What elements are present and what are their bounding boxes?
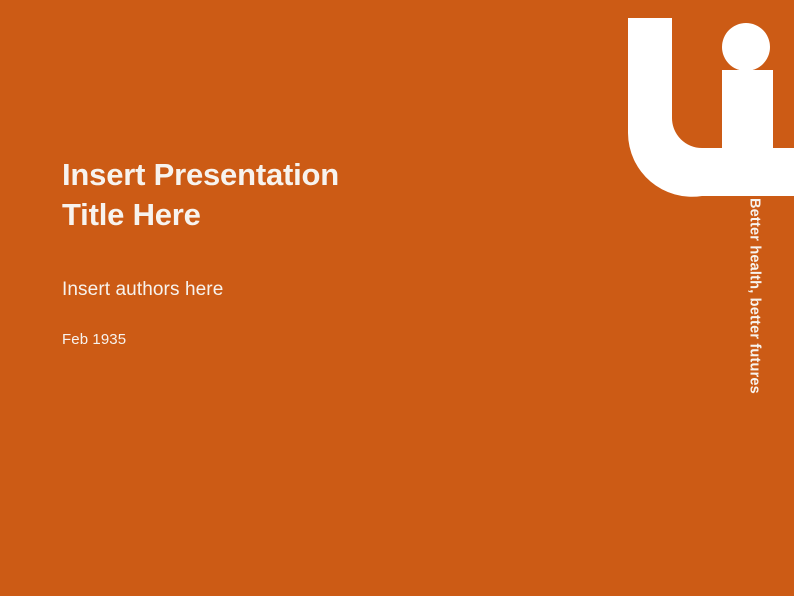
footer-logo-bar: THE UNIVERSITY OF EDINBURGH: [0, 496, 794, 596]
ui-mark-i-stem: [722, 70, 773, 196]
presentation-title-slide: Better health, better futures Insert Pre…: [0, 0, 794, 596]
ui-mark-i-dot: [722, 23, 770, 71]
date-text: Feb 1935: [62, 331, 126, 348]
page-title: Insert Presentation Title Here: [62, 155, 582, 236]
authors-text: Insert authors here: [62, 279, 223, 301]
brand-strapline: Better health, better futures: [747, 196, 773, 426]
title-block: Insert Presentation Title Here: [62, 155, 582, 236]
brand-strapline-text: Better health, better futures: [747, 196, 762, 394]
usher-institute-ui-mark-large: [620, 0, 794, 200]
